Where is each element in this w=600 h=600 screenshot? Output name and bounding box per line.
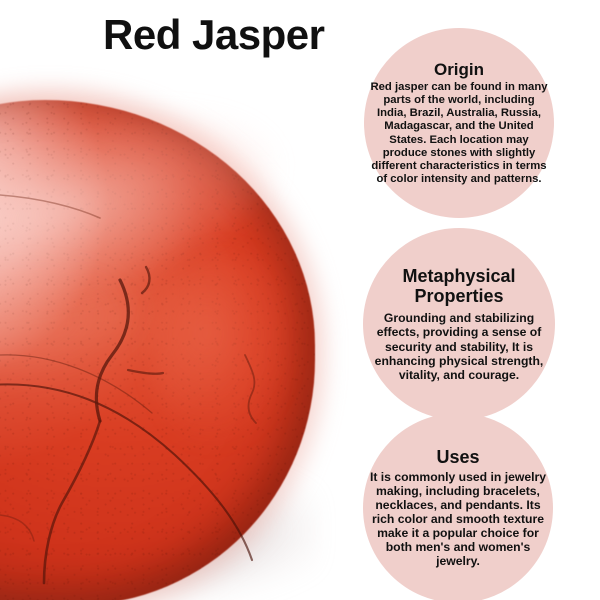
circle-body-uses: It is commonly used in jewelry making, i… (369, 470, 547, 569)
page-title: Red Jasper (103, 13, 324, 57)
circle-body-metaphysical: Grounding and stabilizing effects, provi… (366, 311, 552, 382)
circle-heading-metaphysical: Metaphysical Properties (366, 266, 552, 306)
info-circle-metaphysical: Metaphysical Properties Grounding and st… (363, 228, 555, 420)
circle-body-origin: Red jasper can be found in many parts of… (370, 81, 548, 186)
info-circle-uses: Uses It is commonly used in jewelry maki… (363, 413, 553, 600)
stone-veins (0, 55, 360, 600)
info-circle-origin: Origin Red jasper can be found in many p… (364, 28, 554, 218)
red-jasper-stone-image (0, 55, 360, 600)
circle-heading-origin: Origin (434, 60, 484, 79)
infographic-page: Red Jasper Origin Red jasper can be foun… (0, 0, 600, 600)
circle-heading-uses: Uses (436, 447, 479, 467)
